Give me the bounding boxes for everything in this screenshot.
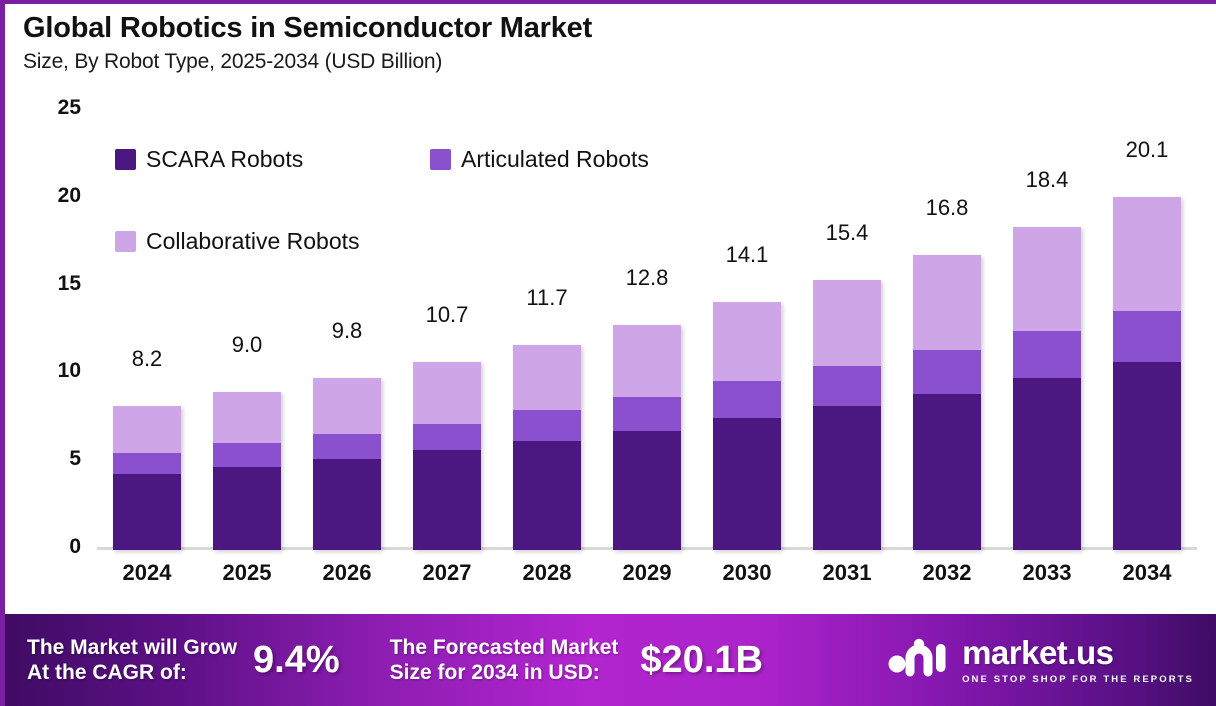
market-us-logo-icon <box>886 636 952 684</box>
bar-segment-articulated-robots[interactable] <box>213 443 281 468</box>
bar-segment-articulated-robots[interactable] <box>813 366 881 406</box>
bar-group[interactable]: 9.0 <box>197 108 297 550</box>
y-tick-label: 5 <box>69 447 81 471</box>
bar-total-label: 18.4 <box>1026 167 1069 193</box>
bar-segment-articulated-robots[interactable] <box>313 434 381 459</box>
bar-group[interactable]: 8.2 <box>97 108 197 550</box>
bar-group[interactable]: 12.8 <box>597 108 697 550</box>
bar-segment-articulated-robots[interactable] <box>613 397 681 430</box>
x-tick-label: 2024 <box>97 560 197 586</box>
bar-segment-articulated-robots[interactable] <box>913 350 981 394</box>
bar-stack[interactable] <box>1113 197 1181 550</box>
bar-segment-collaborative-robots[interactable] <box>1013 227 1081 331</box>
bar-segment-articulated-robots[interactable] <box>113 453 181 474</box>
brand-logo-text: market.us ONE STOP SHOP FOR THE REPORTS <box>962 636 1194 685</box>
y-tick-label: 25 <box>58 96 81 120</box>
bar-group[interactable]: 15.4 <box>797 108 897 550</box>
bar-segment-collaborative-robots[interactable] <box>213 392 281 443</box>
x-tick-label: 2025 <box>197 560 297 586</box>
forecast-size-label: The Forecasted Market Size for 2034 in U… <box>390 635 619 685</box>
bar-group[interactable]: 20.1 <box>1097 108 1197 550</box>
bar-group[interactable]: 18.4 <box>997 108 1097 550</box>
bar-segment-articulated-robots[interactable] <box>1113 311 1181 362</box>
bar-total-label: 9.0 <box>232 332 263 358</box>
bar-segment-scara-robots[interactable] <box>413 450 481 550</box>
page-subtitle: Size, By Robot Type, 2025-2034 (USD Bill… <box>23 50 1216 73</box>
y-tick-label: 0 <box>69 535 81 559</box>
bar-segment-articulated-robots[interactable] <box>513 410 581 442</box>
bar-segment-collaborative-robots[interactable] <box>1113 197 1181 311</box>
header: Global Robotics in Semiconductor Market … <box>5 4 1216 74</box>
bar-segment-articulated-robots[interactable] <box>713 381 781 418</box>
bar-stack[interactable] <box>213 392 281 550</box>
x-tick-label: 2026 <box>297 560 397 586</box>
forecast-size-label-line1: The Forecasted Market <box>390 635 619 660</box>
bar-segment-collaborative-robots[interactable] <box>513 345 581 410</box>
bar-segment-collaborative-robots[interactable] <box>313 378 381 434</box>
bar-segment-collaborative-robots[interactable] <box>913 255 981 350</box>
bar-segment-scara-robots[interactable] <box>713 418 781 550</box>
bar-total-label: 9.8 <box>332 318 363 344</box>
cagr-label-line1: The Market will Grow <box>27 635 237 660</box>
bar-stack[interactable] <box>913 255 981 550</box>
bar-group[interactable]: 10.7 <box>397 108 497 550</box>
cagr-label: The Market will Grow At the CAGR of: <box>27 635 237 685</box>
bar-segment-scara-robots[interactable] <box>113 474 181 550</box>
brand-tagline: ONE STOP SHOP FOR THE REPORTS <box>962 674 1194 685</box>
plot-area: 0510152025 SCARA Robots Articulated Robo… <box>5 108 1216 608</box>
bar-total-label: 11.7 <box>526 285 567 311</box>
bar-segment-collaborative-robots[interactable] <box>713 302 781 381</box>
x-tick-label: 2031 <box>797 560 897 586</box>
bar-total-label: 20.1 <box>1126 137 1169 163</box>
chart-infographic: Global Robotics in Semiconductor Market … <box>0 0 1216 706</box>
y-tick-label: 10 <box>58 359 81 383</box>
bar-total-label: 8.2 <box>132 346 163 372</box>
bar-total-label: 12.8 <box>626 265 669 291</box>
x-tick-label: 2033 <box>997 560 1097 586</box>
bar-stack[interactable] <box>113 406 181 550</box>
x-tick-label: 2028 <box>497 560 597 586</box>
bar-total-label: 14.1 <box>726 242 769 268</box>
cagr-value: 9.4% <box>253 639 340 682</box>
bar-segment-scara-robots[interactable] <box>913 394 981 550</box>
bar-total-label: 16.8 <box>926 195 969 221</box>
cagr-label-line2: At the CAGR of: <box>27 660 237 685</box>
bar-group[interactable]: 9.8 <box>297 108 397 550</box>
x-tick-label: 2030 <box>697 560 797 586</box>
bar-segment-articulated-robots[interactable] <box>1013 331 1081 378</box>
bar-segment-scara-robots[interactable] <box>513 441 581 550</box>
bar-stack[interactable] <box>1013 227 1081 550</box>
forecast-size-block: The Forecasted Market Size for 2034 in U… <box>390 635 763 685</box>
forecast-size-value: $20.1B <box>640 639 763 682</box>
x-tick-label: 2032 <box>897 560 997 586</box>
bar-stack[interactable] <box>313 378 381 550</box>
bar-stack[interactable] <box>513 345 581 550</box>
bar-segment-scara-robots[interactable] <box>813 406 881 550</box>
bar-segment-collaborative-robots[interactable] <box>613 325 681 397</box>
y-axis: 0510152025 <box>5 108 97 578</box>
bar-group[interactable]: 14.1 <box>697 108 797 550</box>
bar-stack[interactable] <box>613 325 681 550</box>
bar-group[interactable]: 16.8 <box>897 108 997 550</box>
bar-segment-articulated-robots[interactable] <box>413 424 481 450</box>
brand-logo[interactable]: market.us ONE STOP SHOP FOR THE REPORTS <box>886 636 1194 685</box>
page-title: Global Robotics in Semiconductor Market <box>23 12 1216 44</box>
y-tick-label: 15 <box>58 272 81 296</box>
bar-segment-scara-robots[interactable] <box>213 467 281 550</box>
x-tick-label: 2034 <box>1097 560 1197 586</box>
bar-segment-scara-robots[interactable] <box>613 431 681 550</box>
x-tick-label: 2027 <box>397 560 497 586</box>
forecast-size-label-line2: Size for 2034 in USD: <box>390 660 619 685</box>
bar-segment-scara-robots[interactable] <box>313 459 381 550</box>
brand-name: market.us <box>962 636 1194 669</box>
bar-stack[interactable] <box>813 280 881 550</box>
cagr-block: The Market will Grow At the CAGR of: 9.4… <box>27 635 340 685</box>
bar-stack[interactable] <box>713 302 781 550</box>
bar-segment-scara-robots[interactable] <box>1113 362 1181 550</box>
x-tick-label: 2029 <box>597 560 697 586</box>
bar-total-label: 10.7 <box>426 302 469 328</box>
y-tick-label: 20 <box>58 184 81 208</box>
bar-series-container: 8.29.09.810.711.712.814.115.416.818.420.… <box>97 108 1197 550</box>
bar-stack[interactable] <box>413 362 481 550</box>
bar-group[interactable]: 11.7 <box>497 108 597 550</box>
bar-segment-collaborative-robots[interactable] <box>813 280 881 366</box>
bar-segment-collaborative-robots[interactable] <box>113 406 181 453</box>
bar-segment-scara-robots[interactable] <box>1013 378 1081 550</box>
bar-segment-collaborative-robots[interactable] <box>413 362 481 423</box>
bar-total-label: 15.4 <box>826 220 869 246</box>
footer-banner: The Market will Grow At the CAGR of: 9.4… <box>5 614 1216 706</box>
x-axis-labels: 2024202520262027202820292030203120322033… <box>97 560 1197 586</box>
